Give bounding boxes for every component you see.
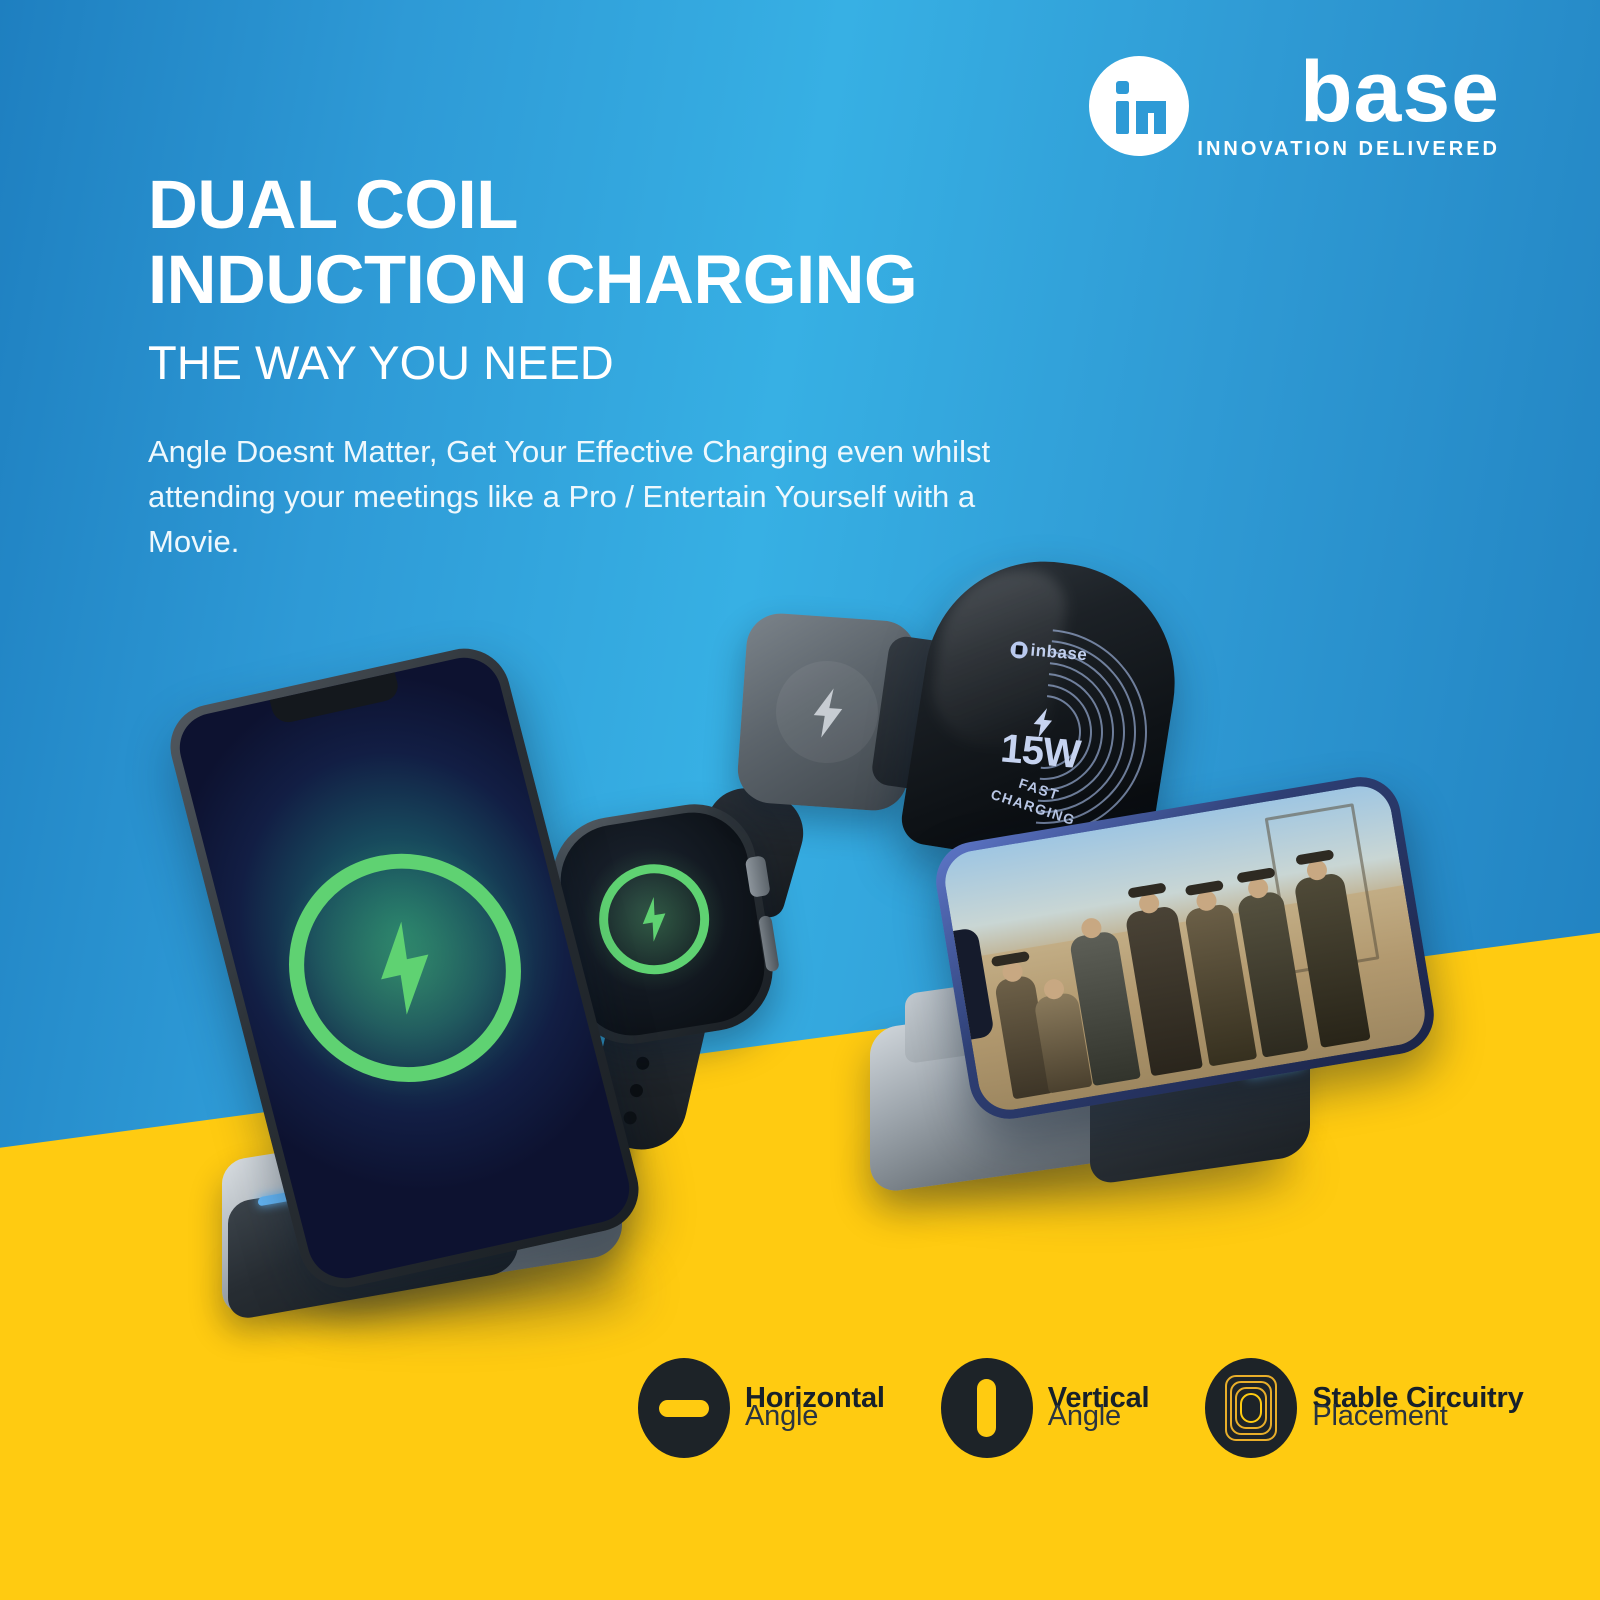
feature-item-vertical-angle: Vertical Angle bbox=[941, 1358, 1150, 1458]
horizontal-angle-icon bbox=[638, 1358, 730, 1458]
lightning-bolt-icon bbox=[773, 658, 882, 767]
feature-strip: Horizontal Angle Vertical Angle bbox=[638, 1358, 1524, 1458]
feature-item-stable-circuitry: Stable Circuitry Placement bbox=[1205, 1358, 1523, 1458]
stable-circuitry-icon bbox=[1205, 1358, 1297, 1458]
vertical-angle-icon bbox=[941, 1358, 1033, 1458]
pad-graphic: inbase 15W FAST CHARGING bbox=[934, 621, 1151, 838]
feature-item-horizontal-angle: Horizontal Angle bbox=[638, 1358, 885, 1458]
inbase-circle-in-icon bbox=[1010, 640, 1028, 658]
phone-notch bbox=[269, 672, 401, 725]
advertisement-poster: base INNOVATION DELIVERED DUAL COIL INDU… bbox=[0, 0, 1600, 1600]
